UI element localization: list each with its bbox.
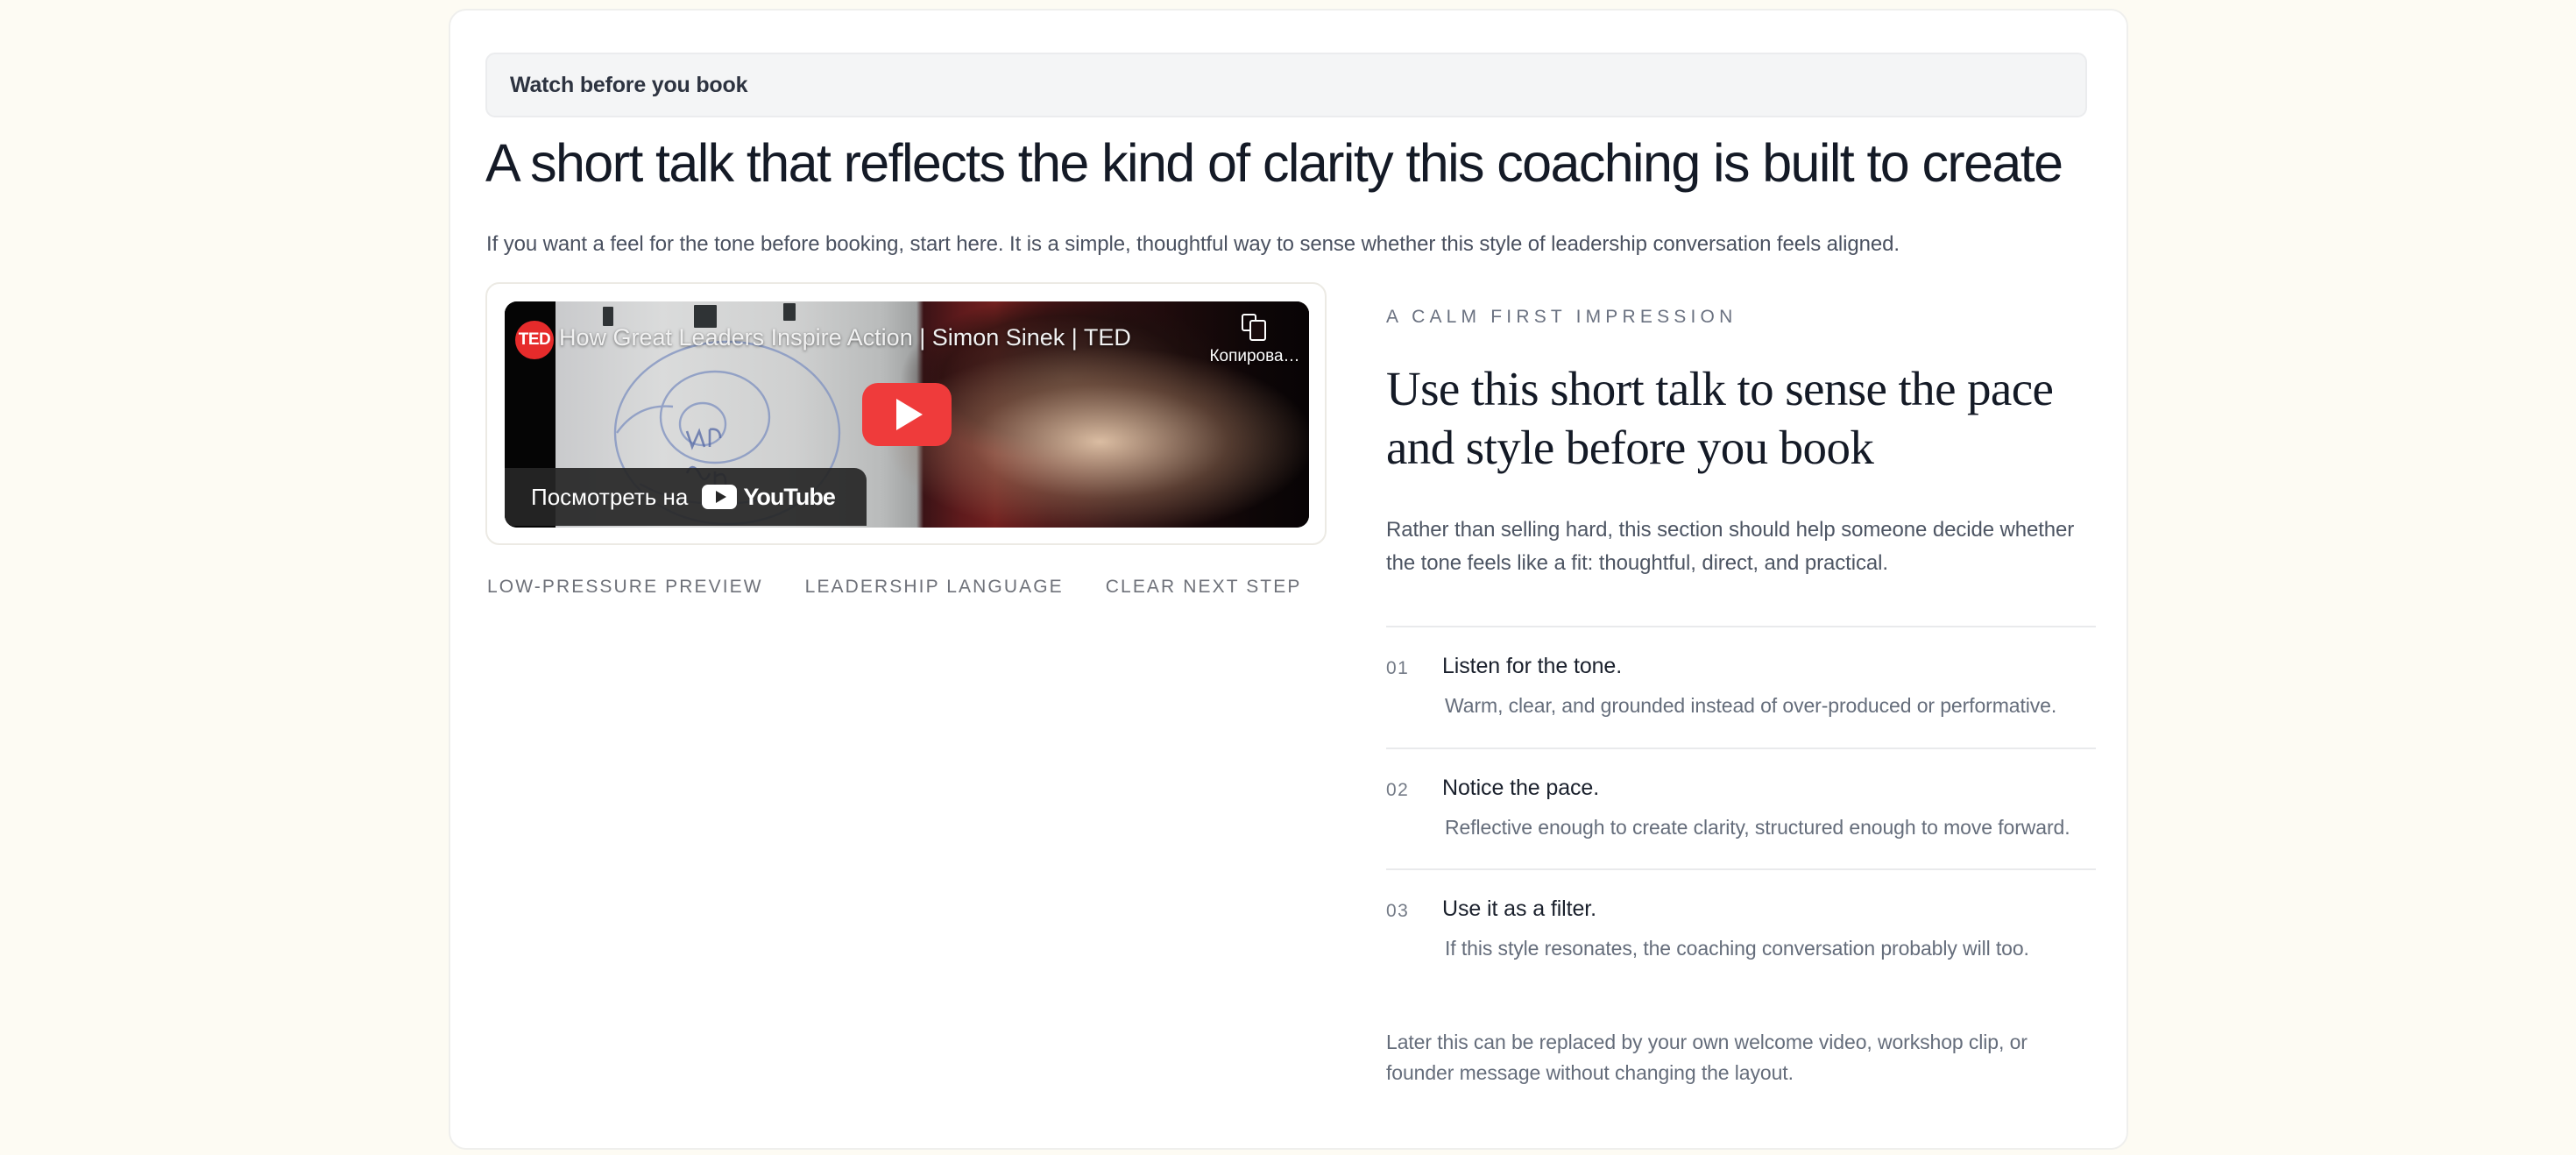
list-item-description: Reflective enough to create clarity, str… [1442, 812, 2096, 843]
copy-link-button[interactable]: Копирова… [1213, 314, 1297, 366]
info-panel: A CALM FIRST IMPRESSION Use this short t… [1386, 282, 2096, 1089]
watch-on-youtube-button[interactable]: Посмотреть на YouTube [505, 468, 867, 526]
list-item-description: If this style resonates, the coaching co… [1442, 933, 2096, 964]
list-item-number: 02 [1386, 776, 1419, 843]
copy-icon [1242, 314, 1268, 342]
list-item-title: Use it as a filter. [1442, 896, 2096, 922]
section-label-pill: Watch before you book [485, 53, 2087, 117]
youtube-player[interactable]: TED How Great Leaders Inspire Action | S… [505, 301, 1309, 528]
video-tag: LOW-PRESSURE PREVIEW [487, 577, 763, 598]
section-label-text: Watch before you book [510, 73, 747, 98]
youtube-play-icon [702, 485, 737, 509]
page-title: A short talk that reflects the kind of c… [485, 133, 2098, 193]
list-item-number: 01 [1386, 654, 1419, 721]
page-root: Watch before you book A short talk that … [0, 0, 2576, 1155]
page-subtitle: If you want a feel for the tone before b… [486, 230, 2063, 260]
youtube-wordmark: YouTube [743, 484, 834, 511]
list-item-title: Listen for the tone. [1442, 654, 2096, 679]
panel-title: Use this short talk to sense the pace an… [1386, 359, 2096, 477]
list-item-body: Notice the pace. Reflective enough to cr… [1442, 776, 2096, 843]
video-title[interactable]: How Great Leaders Inspire Action | Simon… [559, 324, 1131, 351]
list-item: 01 Listen for the tone. Warm, clear, and… [1386, 627, 2096, 748]
list-item-number: 03 [1386, 896, 1419, 964]
list-item: 03 Use it as a filter. If this style res… [1386, 870, 2096, 990]
video-tag-list: LOW-PRESSURE PREVIEW LEADERSHIP LANGUAGE… [487, 577, 1327, 598]
play-icon [896, 399, 923, 430]
youtube-logo: YouTube [702, 484, 834, 511]
panel-footnote: Later this can be replaced by your own w… [1386, 1027, 2078, 1089]
list-item: 02 Notice the pace. Reflective enough to… [1386, 749, 2096, 869]
copy-link-label: Копирова… [1209, 347, 1299, 366]
list-item-body: Use it as a filter. If this style resona… [1442, 896, 2096, 964]
content-columns: TED How Great Leaders Inspire Action | S… [485, 282, 2089, 1089]
video-tag: LEADERSHIP LANGUAGE [805, 577, 1064, 598]
ted-logo-icon: TED [515, 321, 554, 359]
list-item-title: Notice the pace. [1442, 776, 2096, 801]
play-button[interactable] [862, 383, 952, 446]
video-embed-wrapper: TED How Great Leaders Inspire Action | S… [485, 282, 1327, 545]
list-item-description: Warm, clear, and grounded instead of ove… [1442, 691, 2096, 721]
watch-section-card: Watch before you book A short talk that … [449, 9, 2128, 1150]
flipchart-clip [783, 303, 796, 321]
list-item-body: Listen for the tone. Warm, clear, and gr… [1442, 654, 2096, 721]
video-column: TED How Great Leaders Inspire Action | S… [485, 282, 1327, 1089]
panel-eyebrow: A CALM FIRST IMPRESSION [1386, 307, 2096, 328]
watch-on-youtube-label: Посмотреть на [531, 484, 688, 511]
panel-lead-text: Rather than selling hard, this section s… [1386, 514, 2091, 580]
video-tag: CLEAR NEXT STEP [1106, 577, 1302, 598]
flipchart-clip [603, 307, 613, 326]
